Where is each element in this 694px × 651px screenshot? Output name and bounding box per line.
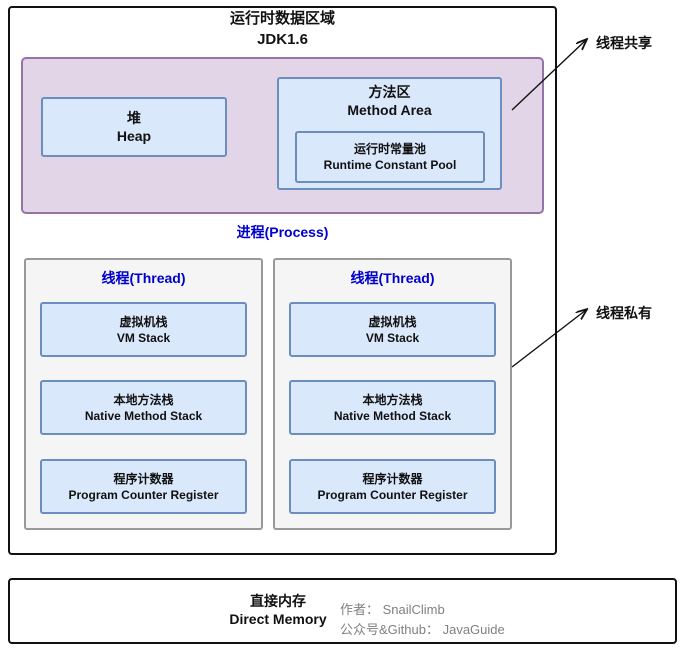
annotation-thread-shared: 线程共享 (596, 33, 652, 53)
runtime-constant-pool-label-en: Runtime Constant Pool (324, 157, 457, 173)
native-method-stack-label-cn-right: 本地方法栈 (362, 392, 422, 408)
program-counter-register-box-right: 程序计数器 Program Counter Register (289, 459, 496, 514)
native-method-stack-label-cn-left: 本地方法栈 (113, 392, 173, 408)
credit-block: 作者： SnailClimb 公众号&Github： JavaGuide (340, 600, 590, 640)
program-counter-register-box-left: 程序计数器 Program Counter Register (40, 459, 247, 514)
diagram-canvas: 运行时数据区域 JDK1.6 堆 Heap 方法区 Method Area 运行… (0, 0, 694, 651)
credit-github: 公众号&Github： JavaGuide (340, 620, 590, 640)
process-label: 进程(Process) (8, 222, 557, 242)
program-counter-register-label-en-right: Program Counter Register (317, 487, 467, 503)
heap-label-en: Heap (117, 127, 151, 145)
method-area-label-en: Method Area (277, 101, 502, 119)
native-method-stack-box-left: 本地方法栈 Native Method Stack (40, 380, 247, 435)
vm-stack-box-right: 虚拟机栈 VM Stack (289, 302, 496, 357)
thread-left-title: 线程(Thread) (24, 268, 263, 288)
heap-label-cn: 堆 (127, 109, 141, 127)
runtime-constant-pool-box: 运行时常量池 Runtime Constant Pool (295, 131, 485, 183)
vm-stack-label-en-left: VM Stack (117, 330, 170, 346)
native-method-stack-label-en-right: Native Method Stack (334, 408, 451, 424)
runtime-title-cn: 运行时数据区域 (8, 8, 557, 29)
runtime-data-area-title: 运行时数据区域 JDK1.6 (8, 8, 557, 50)
program-counter-register-label-cn-right: 程序计数器 (362, 471, 422, 487)
native-method-stack-label-en-left: Native Method Stack (85, 408, 202, 424)
vm-stack-box-left: 虚拟机栈 VM Stack (40, 302, 247, 357)
program-counter-register-label-cn-left: 程序计数器 (113, 471, 173, 487)
thread-right-title: 线程(Thread) (273, 268, 512, 288)
vm-stack-label-en-right: VM Stack (366, 330, 419, 346)
runtime-title-en: JDK1.6 (8, 29, 557, 50)
method-area-label: 方法区 Method Area (277, 83, 502, 119)
heap-box: 堆 Heap (41, 97, 227, 157)
program-counter-register-label-en-left: Program Counter Register (68, 487, 218, 503)
vm-stack-label-cn-left: 虚拟机栈 (119, 314, 167, 330)
method-area-label-cn: 方法区 (277, 83, 502, 101)
native-method-stack-box-right: 本地方法栈 Native Method Stack (289, 380, 496, 435)
credit-author: 作者： SnailClimb (340, 600, 590, 620)
vm-stack-label-cn-right: 虚拟机栈 (368, 314, 416, 330)
runtime-constant-pool-label-cn: 运行时常量池 (354, 141, 426, 157)
annotation-thread-private: 线程私有 (596, 303, 652, 323)
